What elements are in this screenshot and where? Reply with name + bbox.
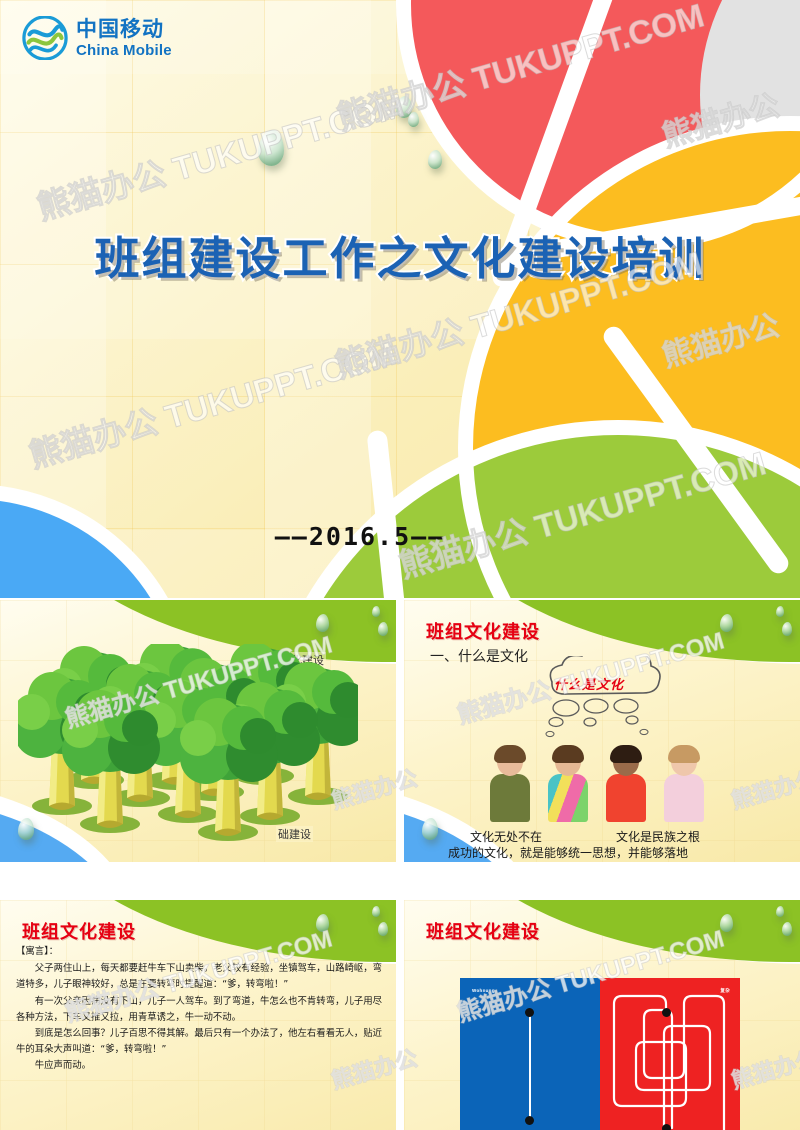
fable-label: 【寓言】：	[16, 944, 382, 960]
water-drop-icon	[316, 914, 329, 932]
simplicity-complexity-diagram: Wohnung 复杂	[460, 978, 740, 1130]
logo-chinese-text: 中国移动	[76, 19, 172, 40]
water-drop-icon	[372, 906, 380, 917]
kid-hair	[552, 745, 584, 763]
endpoint-dot	[662, 1124, 671, 1130]
caption-left: 文化无处不在	[470, 828, 542, 845]
water-drop-icon	[428, 150, 442, 169]
water-drop-icon	[372, 606, 380, 617]
cover-slide: 中国移动 China Mobile 熊猫办公 TUKUPPT.COM 熊猫办公 …	[0, 0, 800, 598]
water-drop-icon	[720, 614, 733, 632]
water-drop-icon	[720, 914, 733, 932]
water-drop-icon	[18, 818, 34, 840]
straight-line	[529, 1014, 531, 1120]
bubble-text: 什么是文化	[554, 674, 624, 693]
kid-body	[548, 774, 588, 822]
water-drop-icon	[782, 922, 792, 936]
water-drop-icon	[378, 622, 388, 636]
fable-paragraph: 父子两住山上，每天都要赶牛车下山卖柴。老父较有经验，坐镇驾车，山路崎岖，弯道特多…	[16, 961, 382, 993]
kid-body	[490, 774, 530, 822]
slide-header: 班组文化建设	[22, 918, 136, 944]
kid-body	[606, 774, 646, 822]
water-drop-icon	[316, 614, 329, 632]
fable-paragraph: 到底是怎么回事？儿子百思不得其解。最后只有一个办法了，他左右看看无人，贴近牛的耳…	[16, 1026, 382, 1058]
presentation-preview: 中国移动 China Mobile 熊猫办公 TUKUPPT.COM 熊猫办公 …	[0, 0, 800, 1130]
kid-body	[664, 774, 704, 822]
kid-hair	[668, 745, 700, 763]
kid-figure	[658, 746, 710, 822]
maze-path	[600, 978, 740, 1130]
water-drop-icon	[776, 606, 784, 617]
cover-title: 班组建设工作之文化建设培训	[0, 222, 800, 287]
slide-fable[interactable]: 班组文化建设 【寓言】： 父子两住山上，每天都要赶牛车下山卖柴。老父较有经验，坐…	[0, 900, 396, 1130]
kid-hair	[494, 745, 526, 763]
water-drop-icon	[422, 818, 438, 840]
slide-header: 班组文化建设	[426, 918, 540, 944]
caption-right: 文化是民族之根	[616, 828, 700, 845]
forest-illustration	[18, 644, 358, 844]
bubble-text-wrap: 什么是文化	[536, 666, 666, 700]
caption-bottom: 成功的文化，就是能够统一思想，并能够落地	[448, 844, 688, 861]
china-mobile-mark-icon	[22, 16, 68, 60]
panel-complex: 复杂	[600, 978, 740, 1130]
endpoint-dot	[525, 1116, 534, 1125]
fable-text-block: 【寓言】： 父子两住山上，每天都要赶牛车下山卖柴。老父较有经验，坐镇驾车，山路崎…	[16, 944, 382, 1074]
kid-figure	[484, 746, 536, 822]
water-drop-icon	[258, 130, 284, 166]
slides-grid: 文化建设 建设 础建设	[0, 600, 800, 1130]
water-drop-icon	[782, 622, 792, 636]
kids-photo-group	[484, 742, 714, 822]
china-mobile-logo: 中国移动 China Mobile	[22, 12, 197, 64]
slide-simple-vs-complex[interactable]: 班组文化建设 Wohnung 复杂	[404, 900, 800, 1130]
logo-english-text: China Mobile	[76, 43, 172, 58]
water-drop-icon	[776, 906, 784, 917]
slide-subtitle: 一、什么是文化	[430, 646, 528, 666]
endpoint-dot	[525, 1008, 534, 1017]
kid-hair	[610, 745, 642, 763]
slide-what-is-culture[interactable]: 班组文化建设 一、什么是文化 什么是文化	[404, 600, 800, 862]
endpoint-dot	[662, 1008, 671, 1017]
fable-paragraph: 牛应声而动。	[16, 1058, 382, 1074]
fable-paragraph: 有一次父亲因病没有下山，儿子一人驾车。到了弯道，牛怎么也不肯转弯，儿子用尽各种方…	[16, 994, 382, 1026]
panel-simple: Wohnung	[460, 978, 600, 1130]
kid-figure	[542, 746, 594, 822]
cover-title-text: 班组建设工作之文化建设培训	[94, 222, 705, 287]
slide-header: 班组文化建设	[426, 618, 540, 644]
water-drop-icon	[408, 112, 419, 127]
water-drop-icon	[378, 922, 388, 936]
kid-figure	[600, 746, 652, 822]
cover-date-text: ——2016.5——	[200, 522, 520, 551]
slide-trees[interactable]: 文化建设 建设 础建设	[0, 600, 396, 862]
panel-left-label: Wohnung	[472, 988, 495, 993]
